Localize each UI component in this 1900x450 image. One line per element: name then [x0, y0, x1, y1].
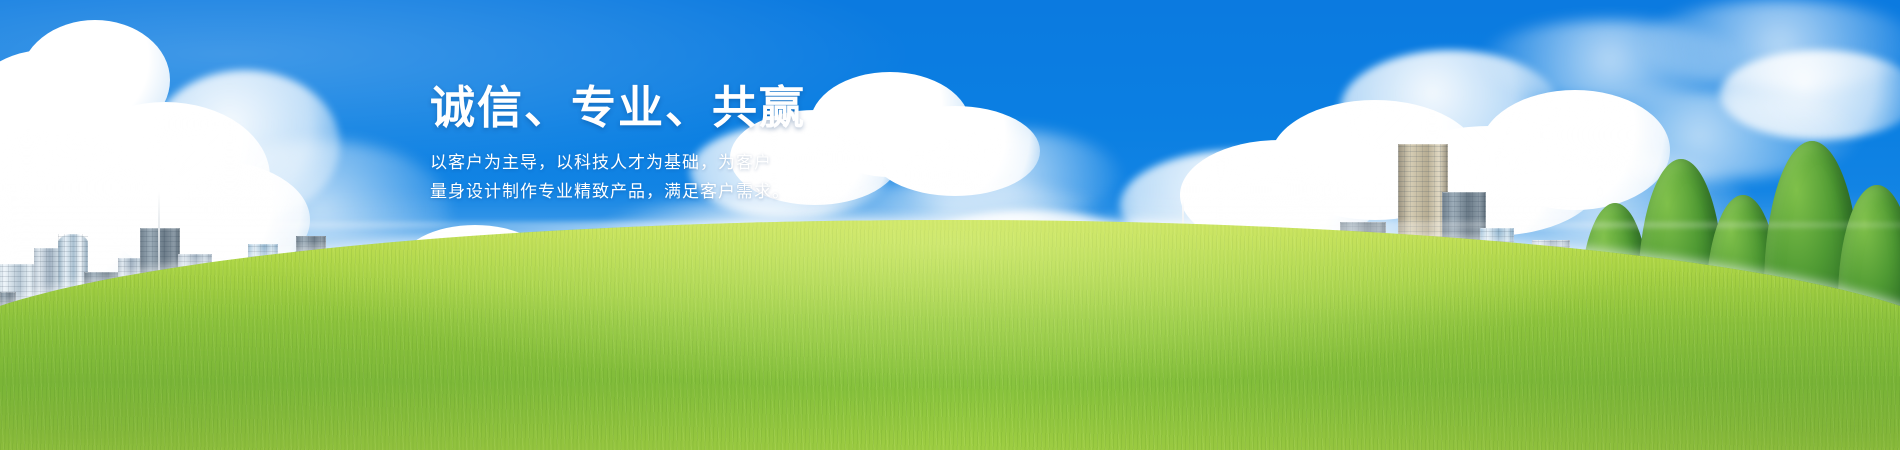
- banner-copy: 诚信、专业、共赢 以客户为主导，以科技人才为基础，为客户 量身设计制作专业精致产…: [430, 84, 806, 207]
- banner-headline: 诚信、专业、共赢: [430, 84, 806, 133]
- banner-subtitle: 以客户为主导，以科技人才为基础，为客户 量身设计制作专业精致产品，满足客户需求。: [430, 149, 806, 207]
- banner-subtitle-line-2: 量身设计制作专业精致产品，满足客户需求。: [430, 178, 806, 207]
- grass-hill: [0, 220, 1900, 450]
- hero-banner: 诚信、专业、共赢 以客户为主导，以科技人才为基础，为客户 量身设计制作专业精致产…: [0, 0, 1900, 450]
- banner-subtitle-line-1: 以客户为主导，以科技人才为基础，为客户: [430, 149, 806, 178]
